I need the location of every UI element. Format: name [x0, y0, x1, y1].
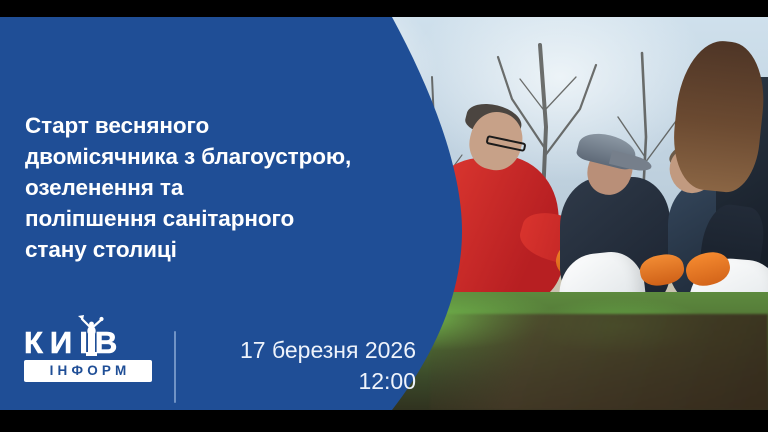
event-time: 12:00: [196, 366, 416, 397]
event-datetime: 17 березня 2026 12:00: [196, 335, 416, 397]
panel-content: Старт весняного двомісячника з благоустр…: [0, 17, 440, 410]
logo-wordmark-row: КИIВ: [24, 322, 152, 358]
event-date: 17 березня 2026: [196, 335, 416, 366]
soil-patch: [430, 314, 768, 410]
kyiv-inform-logo[interactable]: КИIВ ІНФОРМ: [24, 322, 152, 382]
announcement-card: Старт весняного двомісячника з благоустр…: [0, 0, 768, 432]
logo-sub-wordmark: ІНФОРМ: [24, 360, 152, 382]
letterbox-top: [0, 0, 768, 17]
page-title: Старт весняного двомісячника з благоустр…: [25, 110, 425, 265]
vertical-divider: [174, 331, 176, 403]
kyiv-monument-icon: [76, 314, 106, 358]
letterbox-bottom: [0, 410, 768, 432]
